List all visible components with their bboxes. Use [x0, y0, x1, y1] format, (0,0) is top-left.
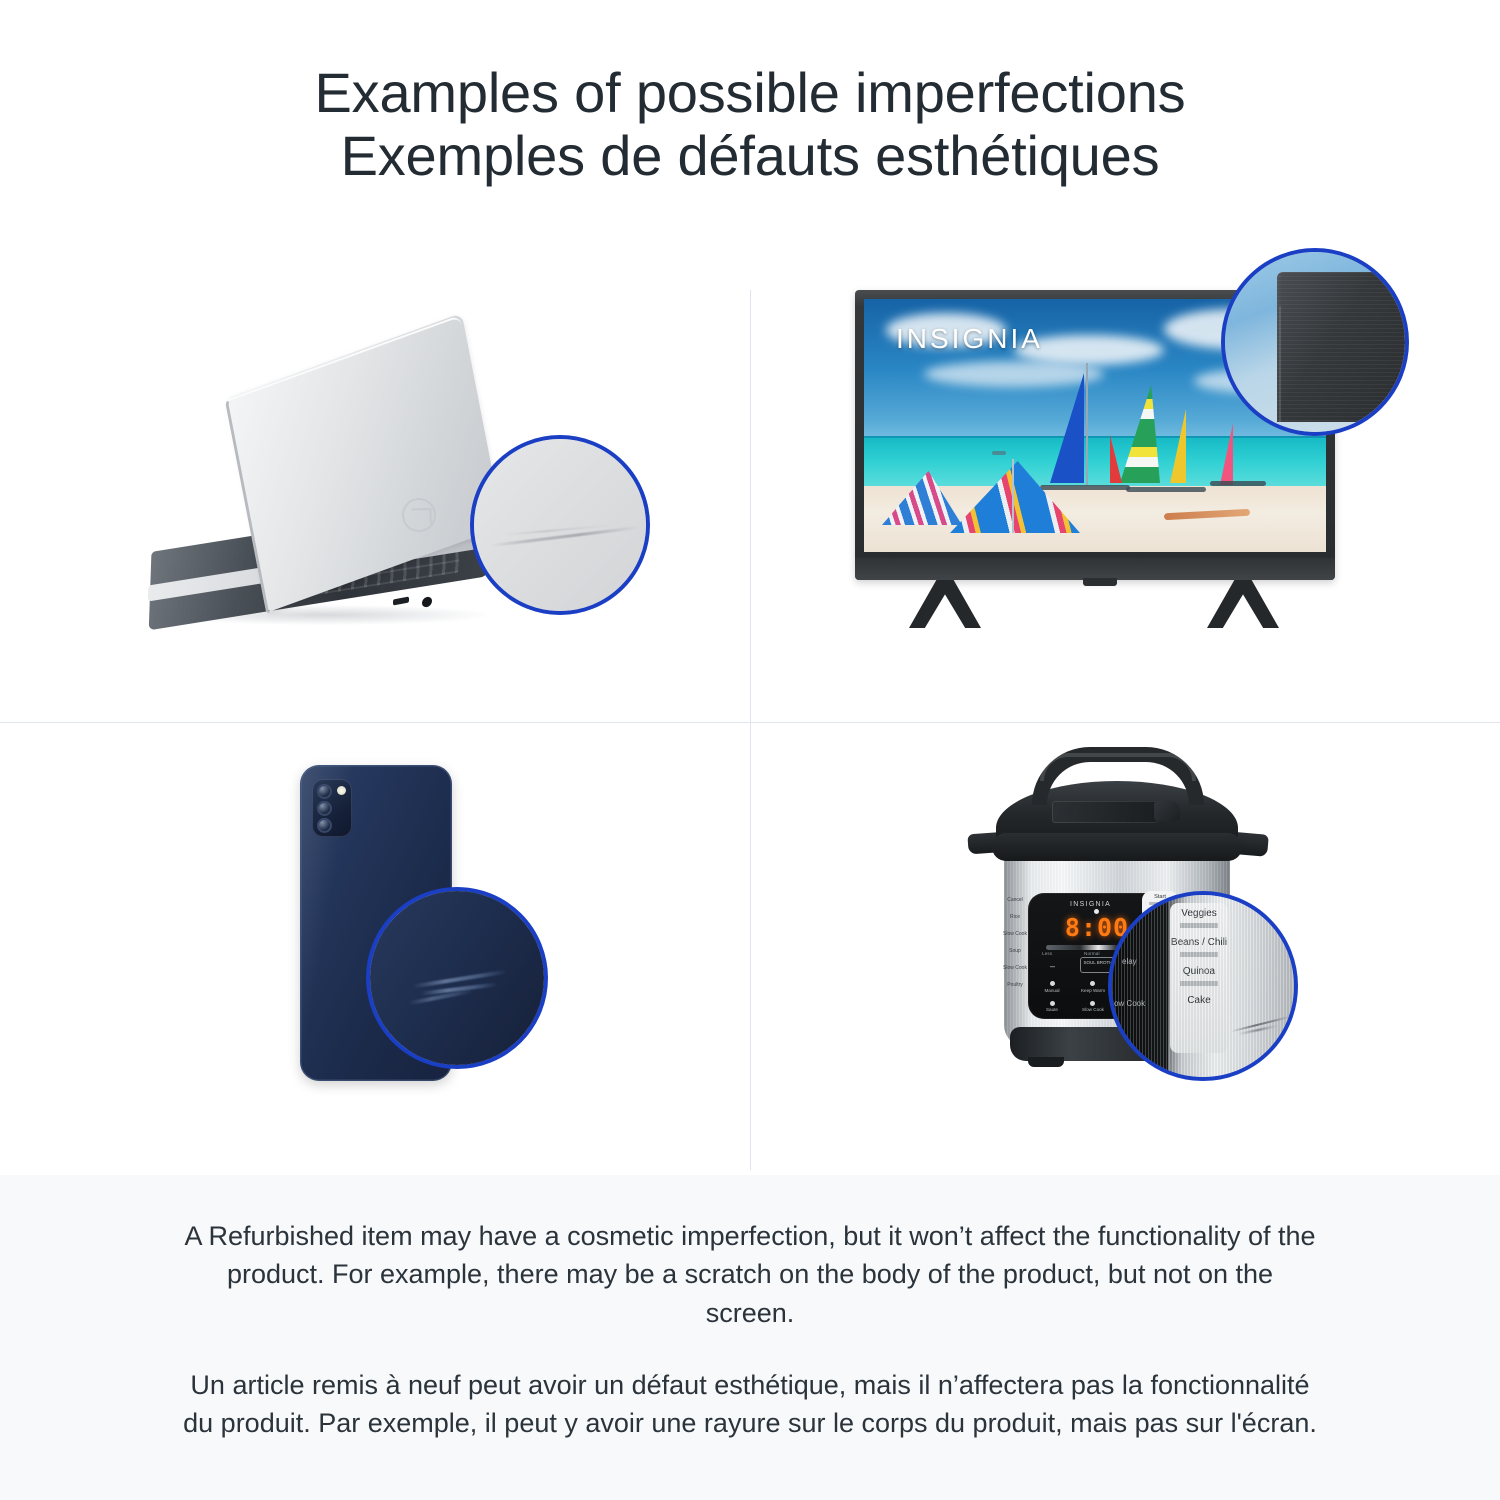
sailboat-yellow	[1170, 409, 1186, 483]
camera-flash-icon	[337, 786, 346, 795]
example-cell-television: INSIGNIA	[750, 250, 1500, 722]
page-title-french: Exemples de défauts esthétiques	[341, 125, 1160, 188]
pressure-cooker-illustration: Cancel Rice Slow Cook Soup Slow Cook Pou…	[966, 741, 1296, 1101]
camera-lens-icon	[317, 784, 332, 799]
boat-hull	[1210, 481, 1266, 486]
decrease-button[interactable]: –	[1050, 961, 1055, 971]
magnified-tv-corner	[1225, 252, 1405, 432]
tv-ir-sensor	[1083, 578, 1117, 586]
sailboat-red	[1110, 435, 1122, 483]
screen-horizon	[864, 436, 1326, 438]
left-label: Slow Cook	[1002, 931, 1028, 937]
example-cell-smartphone	[0, 723, 750, 1175]
left-label: Cancel	[1002, 897, 1028, 903]
page-title-english: Examples of possible imperfections	[315, 62, 1186, 125]
button-indicator	[1050, 1001, 1055, 1006]
sailboat-pink	[1220, 423, 1233, 485]
sailboat-mast	[1086, 363, 1088, 485]
smartphone-illustration	[300, 765, 470, 1095]
tv-stand-leg-left	[909, 580, 981, 628]
magnified-phone-surface	[370, 891, 544, 1065]
television-illustration: INSIGNIA	[855, 290, 1355, 650]
example-cell-pressure-cooker: Cancel Rice Slow Cook Soup Slow Cook Pou…	[750, 723, 1500, 1175]
cooker-brand-logo: INSIGNIA	[1070, 901, 1111, 908]
magnifier-circle-television	[1221, 248, 1409, 436]
sailboat-blue	[1050, 373, 1084, 483]
handle-highlight	[1040, 753, 1196, 781]
camera-module	[312, 779, 352, 837]
slider-label-normal: Normal	[1084, 951, 1100, 956]
camera-lens-icon	[317, 818, 332, 833]
left-label: Slow Cook	[1002, 965, 1028, 971]
left-label: Poultry	[1002, 982, 1028, 988]
example-cell-laptop	[0, 250, 750, 722]
left-label: Rice	[1002, 914, 1028, 920]
stainless-texture	[1112, 895, 1294, 1077]
cooker-left-label-column: Cancel Rice Slow Cook Soup Slow Cook Pou…	[1002, 897, 1028, 999]
cooker-foot	[1028, 1057, 1064, 1067]
footer-note-french: Un article remis à neuf peut avoir un dé…	[180, 1366, 1320, 1443]
panel-button-saute[interactable]: Saute	[1037, 1007, 1067, 1012]
slider-label-less: Less	[1042, 951, 1052, 956]
header: Examples of possible imperfections Exemp…	[0, 0, 1500, 250]
boat-hull	[1126, 487, 1206, 492]
tv-stand-leg-right	[1207, 580, 1279, 628]
product-examples-grid: INSIGNIA	[0, 250, 1500, 1175]
tent-pole	[1012, 459, 1014, 533]
laptop-illustration	[150, 355, 570, 655]
tv-brand-logo: INSIGNIA	[896, 323, 1043, 355]
refurbished-imperfections-infographic: Examples of possible imperfections Exemp…	[0, 0, 1500, 1500]
left-label: Soup	[1002, 948, 1028, 954]
distant-boat	[992, 451, 1006, 455]
bezel-texture	[1277, 272, 1409, 422]
boat-hull	[1040, 485, 1130, 490]
magnified-laptop-surface	[474, 439, 646, 611]
magnified-cooker-surface: elay ow Cook Veggies Beans / Chili Quino…	[1112, 895, 1294, 1077]
panel-button-keep-warm[interactable]: Keep Warm	[1078, 988, 1108, 993]
tv-bottom-bezel	[855, 558, 1335, 580]
button-indicator	[1090, 1001, 1095, 1006]
magnifier-circle-smartphone	[366, 887, 548, 1069]
button-indicator	[1050, 981, 1055, 986]
footer-note-english: A Refurbished item may have a cosmetic i…	[180, 1217, 1320, 1332]
footer-note-panel: A Refurbished item may have a cosmetic i…	[0, 1175, 1500, 1500]
button-indicator	[1090, 981, 1095, 986]
panel-button-slow-cook[interactable]: Slow Cook	[1078, 1007, 1108, 1012]
camera-lens-icon	[317, 801, 332, 816]
magnifier-circle-laptop	[470, 435, 650, 615]
panel-button-manual[interactable]: Manual	[1037, 988, 1067, 993]
cooker-lid-rim	[992, 833, 1242, 861]
magnifier-circle-pressure-cooker: elay ow Cook Veggies Beans / Chili Quino…	[1108, 891, 1298, 1081]
